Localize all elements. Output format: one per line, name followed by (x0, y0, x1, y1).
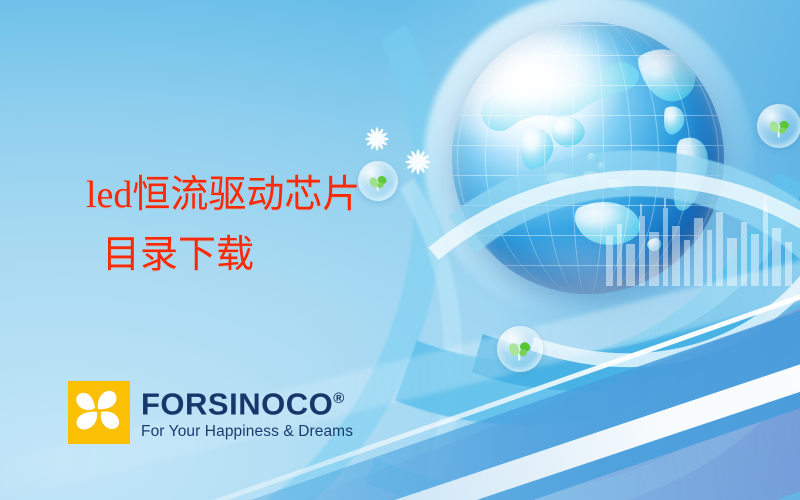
bubble-icon (757, 104, 800, 148)
logo-wordmark-text: FORSINOCO (141, 386, 333, 421)
logo-wordmark: FORSINOCO® (141, 382, 353, 421)
flower-icon (404, 148, 432, 176)
sprout-icon (507, 336, 533, 362)
headline-line-1: led恒流驱动芯片 (86, 165, 360, 225)
logo-text-block: FORSINOCO® For Your Happiness & Dreams (141, 381, 353, 441)
sprout-icon (767, 114, 792, 139)
headline-line-2: 目录下载 (86, 225, 360, 285)
promo-banner: led恒流驱动芯片 目录下载 FORSINOCO® For Your Happi… (0, 0, 800, 500)
bubble-icon (358, 161, 398, 201)
pinwheel-logo-icon (68, 381, 130, 444)
registered-trademark-symbol: ® (333, 390, 344, 407)
sprout-icon (367, 170, 389, 192)
flower-icon (364, 126, 390, 152)
logo-tagline: For Your Happiness & Dreams (141, 422, 353, 441)
bubble-icon (497, 326, 543, 372)
company-logo: FORSINOCO® For Your Happiness & Dreams (68, 381, 353, 444)
headline: led恒流驱动芯片 目录下载 (86, 165, 360, 285)
